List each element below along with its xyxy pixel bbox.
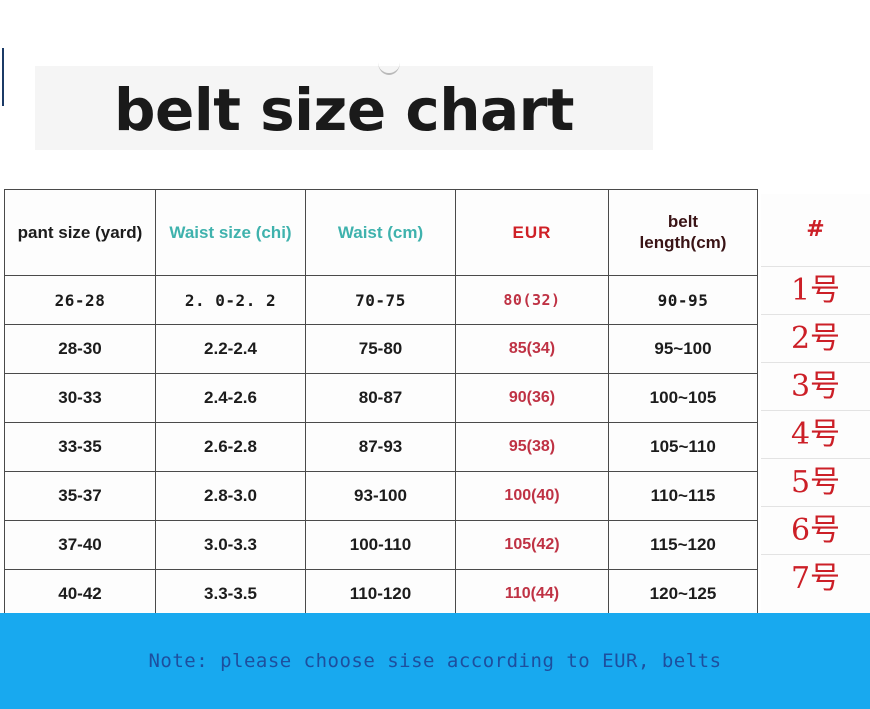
cell-waist-cm: 93-100	[306, 472, 456, 521]
cell-eur: 95(38)	[456, 423, 609, 472]
cell-waist-cm: 100-110	[306, 521, 456, 570]
header-belt-length: belt length(cm)	[609, 190, 758, 276]
cell-eur: 80(32)	[456, 276, 609, 325]
hash-size-column: # 1号 2号 3号 4号 5号 6号 7号	[761, 194, 870, 614]
cell-belt-length: 100~105	[609, 374, 758, 423]
cell-waist-cm: 110-120	[306, 570, 456, 619]
table-row: 33-35 2.6-2.8 87-93 95(38) 105~110	[5, 423, 758, 472]
size-chart-table: pant size (yard) Waist size (chi) Waist …	[4, 189, 758, 619]
hash-value: 1号	[761, 267, 870, 315]
note-text: Note: please choose sise according to EU…	[0, 650, 870, 672]
cell-belt-length: 120~125	[609, 570, 758, 619]
cell-waist-chi: 2. 0-2. 2	[156, 276, 306, 325]
hash-value: 3号	[761, 363, 870, 411]
cell-eur: 100(40)	[456, 472, 609, 521]
table-row: 26-28 2. 0-2. 2 70-75 80(32) 90-95	[5, 276, 758, 325]
cell-belt-length: 95~100	[609, 325, 758, 374]
cell-eur: 105(42)	[456, 521, 609, 570]
hash-value: 5号	[761, 459, 870, 507]
cell-waist-cm: 70-75	[306, 276, 456, 325]
cell-pant-size: 33-35	[5, 423, 156, 472]
belt-size-chart-page: belt size chart pant size (yard) Waist s…	[0, 0, 870, 709]
cell-waist-chi: 2.6-2.8	[156, 423, 306, 472]
cell-eur: 85(34)	[456, 325, 609, 374]
cell-pant-size: 30-33	[5, 374, 156, 423]
header-waist-cm: Waist (cm)	[306, 190, 456, 276]
table-row: 28-30 2.2-2.4 75-80 85(34) 95~100	[5, 325, 758, 374]
header-belt-length-line2: length(cm)	[609, 233, 757, 254]
table-row: 40-42 3.3-3.5 110-120 110(44) 120~125	[5, 570, 758, 619]
cell-waist-chi: 2.2-2.4	[156, 325, 306, 374]
header-pant-size: pant size (yard)	[5, 190, 156, 276]
hash-column-header: #	[761, 194, 870, 267]
cell-waist-cm: 87-93	[306, 423, 456, 472]
page-title: belt size chart	[35, 70, 653, 150]
table-row: 35-37 2.8-3.0 93-100 100(40) 110~115	[5, 472, 758, 521]
left-edge-marker	[2, 48, 4, 106]
table-row: 37-40 3.0-3.3 100-110 105(42) 115~120	[5, 521, 758, 570]
cell-belt-length: 105~110	[609, 423, 758, 472]
header-belt-length-line1: belt	[609, 212, 757, 233]
hash-value: 6号	[761, 507, 870, 555]
cell-pant-size: 26-28	[5, 276, 156, 325]
cell-pant-size: 37-40	[5, 521, 156, 570]
cell-belt-length: 90-95	[609, 276, 758, 325]
cell-eur: 110(44)	[456, 570, 609, 619]
header-eur: EUR	[456, 190, 609, 276]
hash-value: 7号	[761, 555, 870, 602]
cell-waist-chi: 2.8-3.0	[156, 472, 306, 521]
hash-value: 4号	[761, 411, 870, 459]
table-row: 30-33 2.4-2.6 80-87 90(36) 100~105	[5, 374, 758, 423]
cell-waist-cm: 80-87	[306, 374, 456, 423]
table-header-row: pant size (yard) Waist size (chi) Waist …	[5, 190, 758, 276]
cell-waist-chi: 3.3-3.5	[156, 570, 306, 619]
cell-pant-size: 28-30	[5, 325, 156, 374]
cell-waist-chi: 3.0-3.3	[156, 521, 306, 570]
cell-pant-size: 40-42	[5, 570, 156, 619]
cell-belt-length: 110~115	[609, 472, 758, 521]
cell-eur: 90(36)	[456, 374, 609, 423]
cell-waist-chi: 2.4-2.6	[156, 374, 306, 423]
cell-belt-length: 115~120	[609, 521, 758, 570]
header-waist-chi: Waist size (chi)	[156, 190, 306, 276]
cell-waist-cm: 75-80	[306, 325, 456, 374]
hash-value: 2号	[761, 315, 870, 363]
cell-pant-size: 35-37	[5, 472, 156, 521]
